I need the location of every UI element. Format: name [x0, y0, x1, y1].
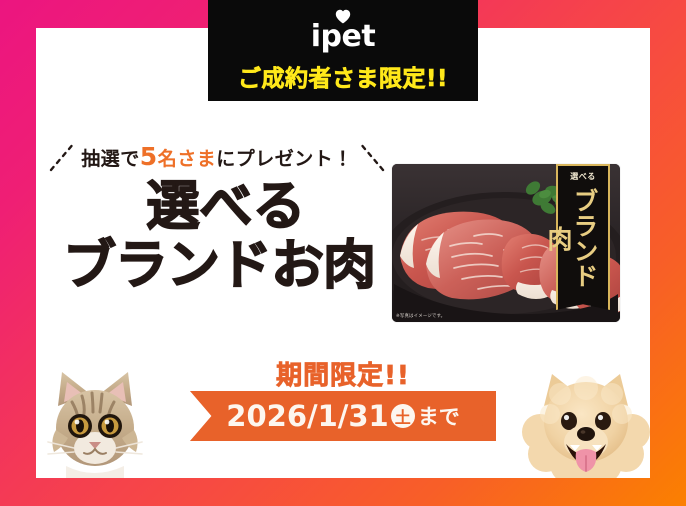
brand-name: ipet: [311, 22, 375, 52]
photo-disclaimer-caption: ※写真はイメージです。: [396, 313, 445, 319]
cat-photo: [36, 368, 152, 478]
gold-banner-top-label: 選べる: [556, 171, 610, 182]
lead-suffix: にプレゼント！: [216, 148, 353, 170]
lottery-lead-row: 抽選で5名さまにプレゼント！: [52, 142, 382, 176]
promo-banner: ipet ご成約者さま限定!! 抽選で5名さまにプレゼント！: [0, 0, 686, 506]
brand-meat-gold-banner: 選べる ブランド肉: [556, 164, 610, 310]
gold-banner-main-label: ブランド肉: [569, 186, 597, 290]
brand-header-plaque: ipet ご成約者さま限定!!: [208, 0, 478, 101]
deadline-weekday: 土: [391, 404, 415, 428]
lottery-lead-text: 抽選で5名さまにプレゼント！: [81, 142, 352, 171]
main-headline: 選べる ブランドお肉: [44, 180, 394, 292]
dashed-decoration-left-icon: [48, 144, 82, 178]
gold-banner-tail: [556, 295, 610, 310]
lead-winner-count: 5: [140, 142, 158, 171]
headline-line-1: 選べる: [44, 180, 394, 233]
deadline-ribbon: 2026/1/31土まで: [190, 391, 496, 441]
pomeranian-illustration: [522, 366, 650, 478]
deadline-text: 2026/1/31土まで: [226, 399, 459, 433]
lead-winner-unit: 名さま: [158, 148, 217, 170]
headline-line-2: ブランドお肉: [44, 239, 394, 292]
deadline-date: 2026/1/31: [226, 399, 388, 433]
tabby-kitten-illustration: [36, 368, 152, 478]
ipet-logo: ipet: [311, 9, 375, 52]
dog-photo: [522, 366, 650, 478]
lead-prefix: 抽選で: [81, 148, 140, 170]
deadline-suffix: まで: [418, 401, 460, 431]
dashed-decoration-right-icon: [352, 144, 386, 178]
contract-holder-only-label: ご成約者さま限定!!: [238, 59, 448, 93]
prize-product-photo: . ※写真はイメージです。 選べる ブランド肉: [392, 164, 620, 322]
